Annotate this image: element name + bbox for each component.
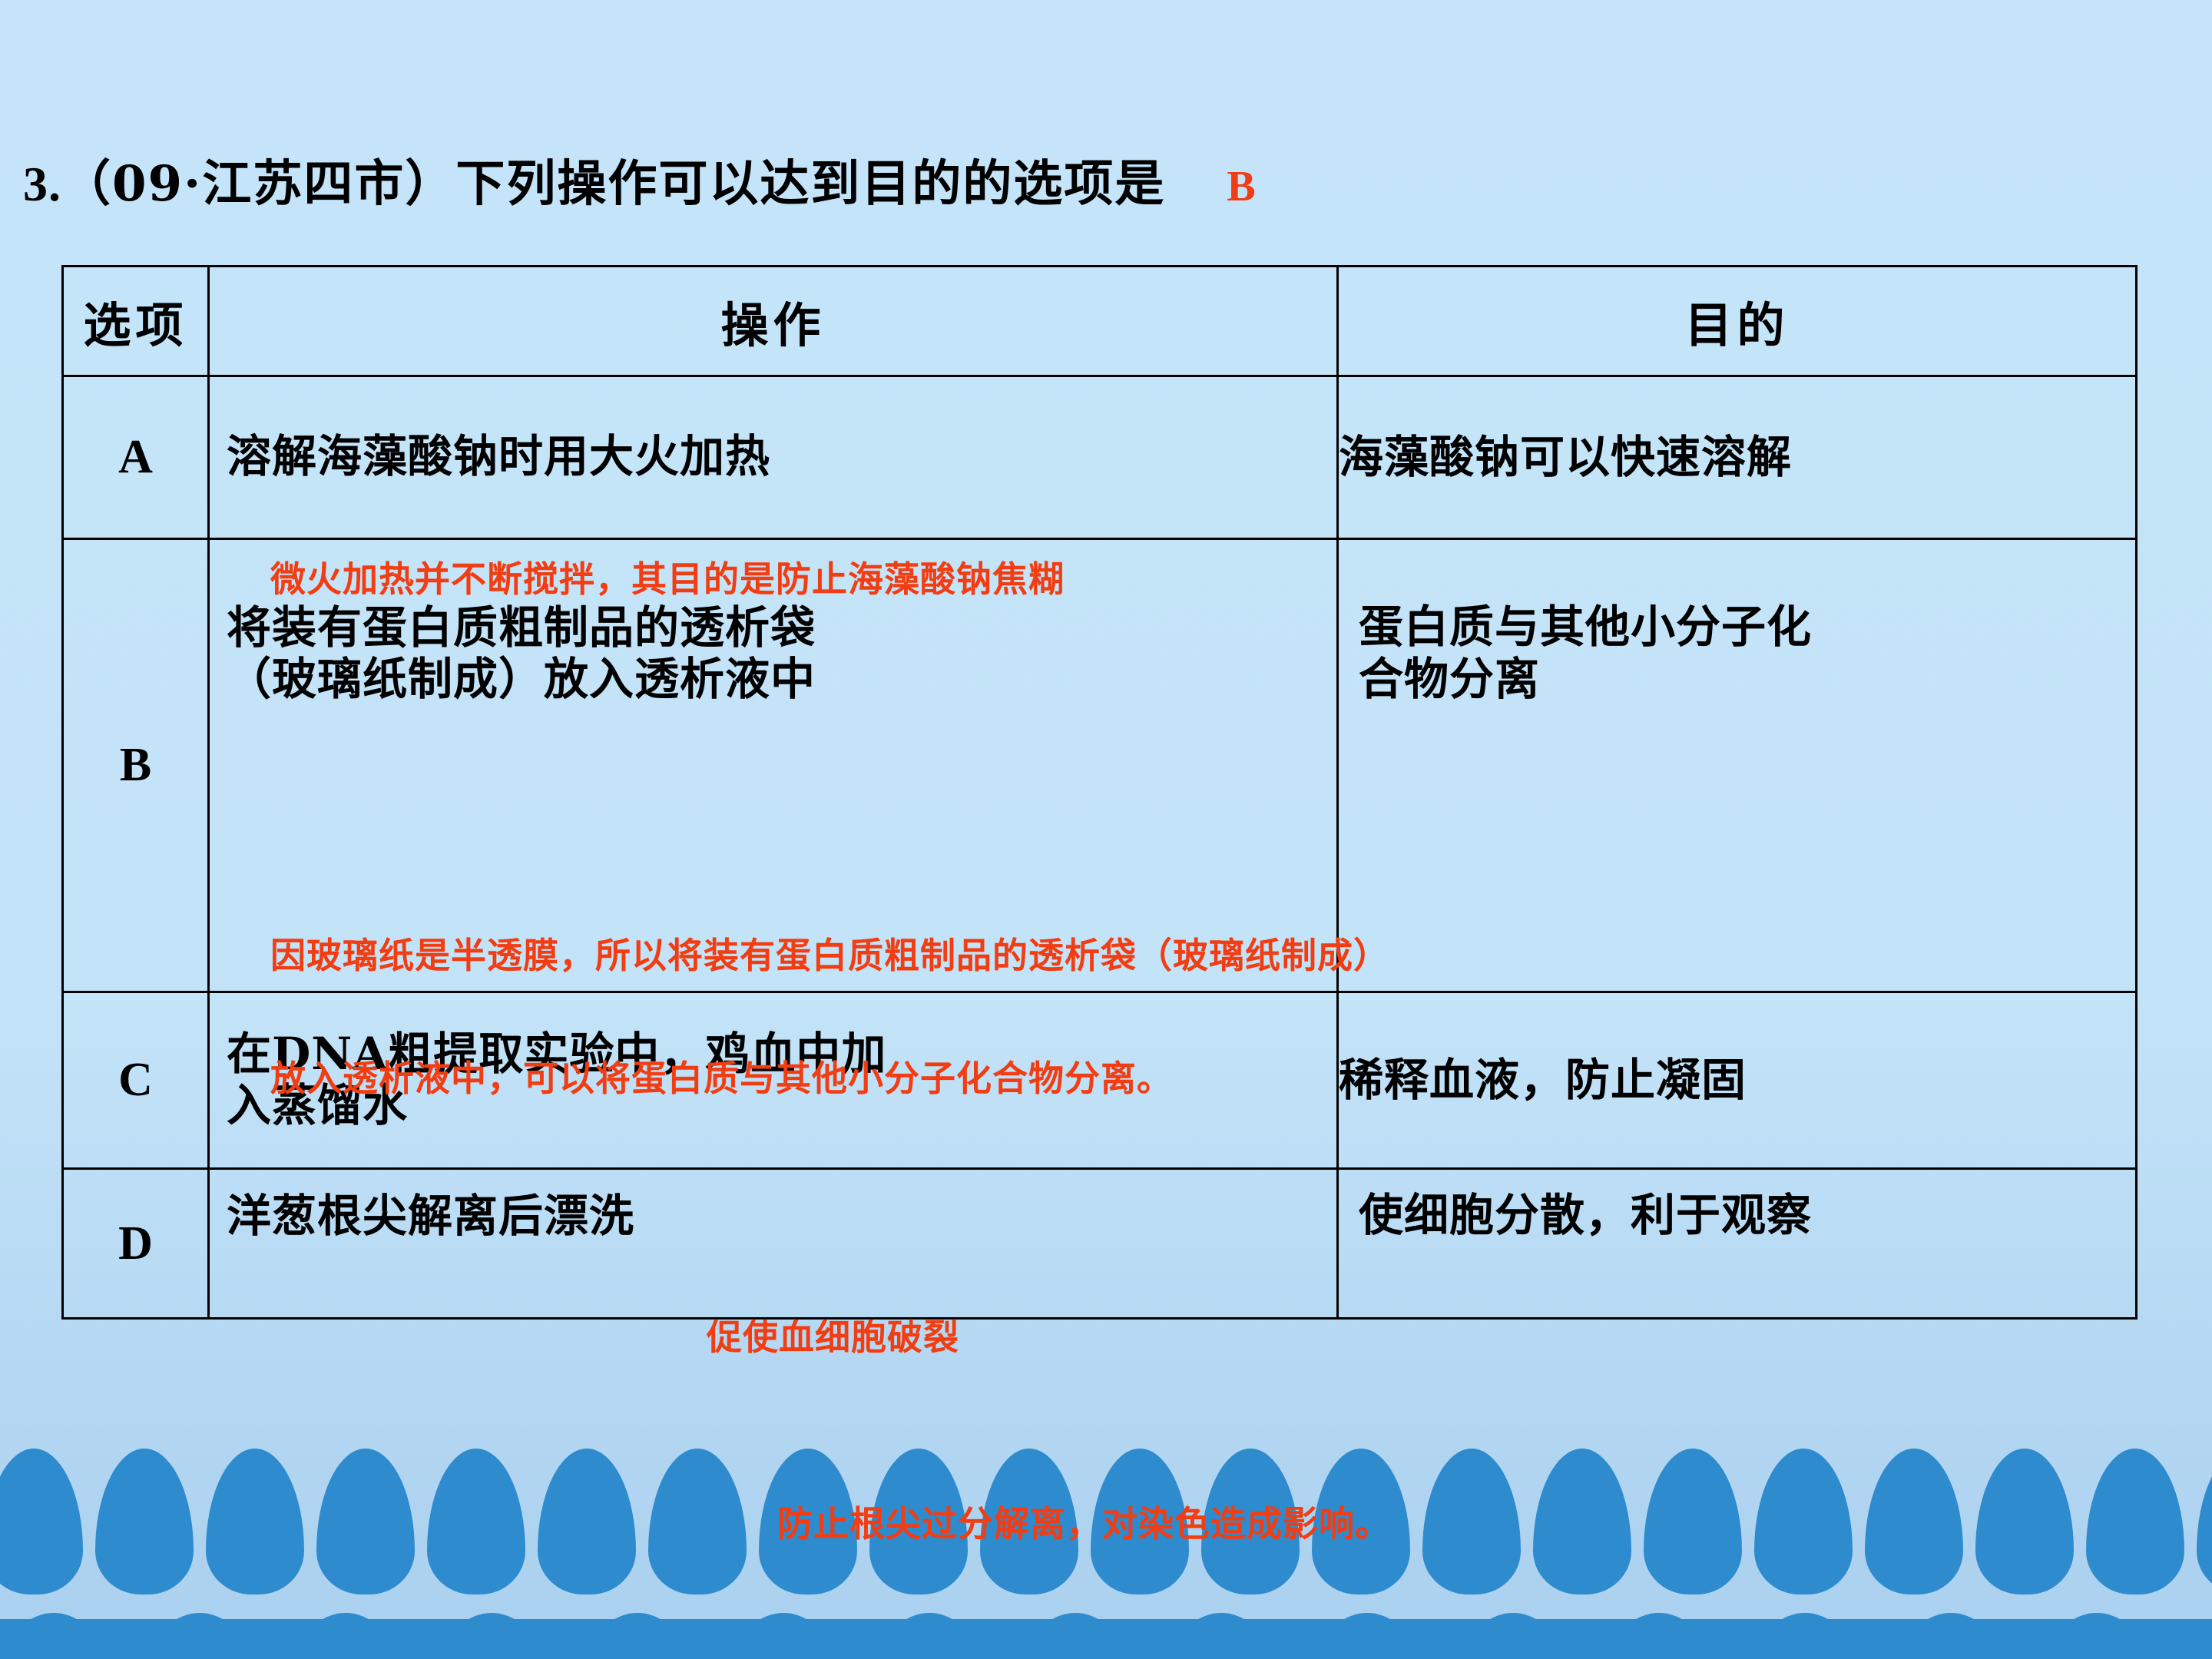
decorative-dome [568, 1613, 707, 1659]
decorative-dome [131, 1613, 269, 1659]
annotation-c: 促使血细胞破裂 [707, 1310, 959, 1360]
decorative-dome [1152, 1613, 1290, 1659]
annotation-d: 防止根尖过分解离，对染色造成影响。 [777, 1496, 1391, 1547]
slide-canvas: 3. （09·江苏四市）下列操作可以达到目的的选项是 B 选项 操作 目的 A … [0, 0, 2212, 1659]
decorative-dome [427, 1449, 525, 1594]
decorative-dome [206, 1449, 304, 1594]
annotation-b-line1: 因玻璃纸是半透膜，所以将装有蛋白质粗制品的透析袋（玻璃纸制成） [270, 928, 1389, 979]
decorative-dome [1754, 1449, 1853, 1594]
operation-text-b-line1: 将装有蛋白质粗制品的透析袋 [227, 602, 1326, 653]
row-option-d: D [63, 1169, 209, 1319]
row-purpose-b: 蛋白质与其他小分子化 合物分离 [1338, 539, 2137, 992]
answer-label: B [1227, 162, 1255, 211]
decorative-dome [0, 1449, 83, 1594]
row-option-a: A [63, 376, 209, 539]
decorative-dome [2086, 1449, 2184, 1594]
decorative-dome [2028, 1613, 2166, 1659]
table-row: D 洋葱根尖解离后漂洗 使细胞分散，利于观察 [63, 1169, 2137, 1319]
decorative-dome [1975, 1449, 2074, 1594]
decorative-dome [95, 1449, 194, 1594]
decorative-dome [276, 1613, 415, 1659]
header-option: 选项 [63, 267, 209, 376]
decorative-dome [1533, 1449, 1631, 1594]
decorative-dome [1865, 1449, 1963, 1594]
decorative-dome [538, 1449, 636, 1594]
row-purpose-c: 稀释血液，防止凝固 [1338, 992, 2137, 1169]
row-operation-d: 洋葱根尖解离后漂洗 [209, 1169, 1338, 1319]
purpose-text-d: 使细胞分散，利于观察 [1359, 1190, 2128, 1241]
header-purpose: 目的 [1338, 267, 2137, 376]
question-heading: 3. （09·江苏四市）下列操作可以达到目的的选项是 B [23, 144, 1256, 215]
annotation-a: 微火加热并不断搅拌，其目的是防止海藻酸钠焦糊 [270, 551, 1065, 602]
decorative-dome [422, 1613, 561, 1659]
row-purpose-a: 海藻酸钠可以快速溶解 [1338, 376, 2137, 539]
table-header-row: 选项 操作 目的 [63, 267, 2137, 376]
decorative-dome [714, 1613, 853, 1659]
header-operation: 操作 [209, 267, 1338, 376]
decorative-dome [316, 1449, 415, 1594]
table-row: A 溶解海藻酸钠时用大火加热 海藻酸钠可以快速溶解 [63, 376, 2137, 539]
decorative-dome [1590, 1613, 1728, 1659]
decorative-dome [1298, 1613, 1436, 1659]
decorative-dome [860, 1613, 998, 1659]
decorative-dome [1422, 1449, 1521, 1594]
row-operation-a: 溶解海藻酸钠时用大火加热 [209, 376, 1338, 539]
annotation-b-line2: 放入透析液中，可以将蛋白质与其他小分子化合物分离。 [270, 1051, 1173, 1101]
operation-text-b-line2: （玻璃纸制成）放入透析液中 [227, 654, 1326, 704]
decorative-dome [1644, 1449, 1742, 1594]
table-row: B 将装有蛋白质粗制品的透析袋 （玻璃纸制成）放入透析液中 蛋白质与其他小分子化… [63, 539, 2137, 992]
decorative-dome [2174, 1613, 2212, 1659]
decorative-dome [1444, 1613, 1582, 1659]
purpose-text-b-line1: 蛋白质与其他小分子化 [1359, 601, 2128, 653]
operation-text-a: 溶解海藻酸钠时用大火加热 [227, 431, 1326, 482]
operation-text-d: 洋葱根尖解离后漂洗 [227, 1190, 1326, 1241]
row-option-c: C [63, 992, 209, 1169]
row-option-b: B [63, 539, 209, 992]
decorative-dome [2197, 1449, 2212, 1594]
row-purpose-d: 使细胞分散，利于观察 [1338, 1169, 2137, 1319]
purpose-text-b-line2: 合物分离 [1359, 654, 2128, 705]
decorative-dome [1736, 1613, 1874, 1659]
decorative-dome [1882, 1613, 2020, 1659]
options-table: 选项 操作 目的 A 溶解海藻酸钠时用大火加热 海藻酸钠可以快速溶解 B [61, 265, 2137, 1320]
question-text: （09·江苏四市）下列操作可以达到目的的选项是 [61, 144, 1165, 215]
question-number: 3. [23, 156, 61, 213]
decorative-dome [0, 1613, 123, 1659]
row-operation-b: 将装有蛋白质粗制品的透析袋 （玻璃纸制成）放入透析液中 [209, 539, 1338, 992]
decorative-dome [1006, 1613, 1144, 1659]
decorative-dome [648, 1449, 747, 1594]
